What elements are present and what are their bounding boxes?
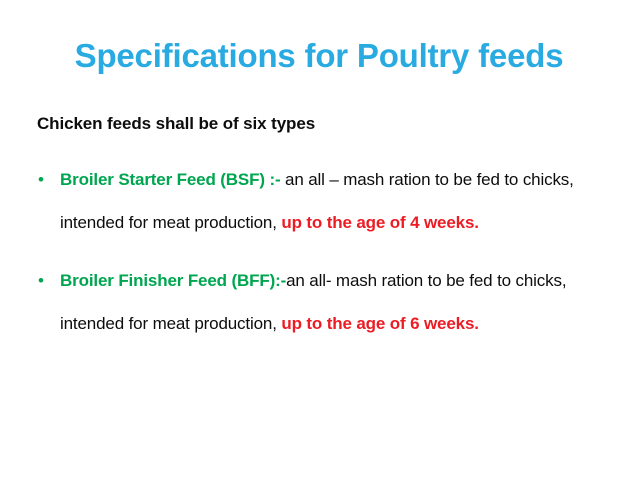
bullet-lead-label: Broiler Starter Feed (BSF) :- bbox=[60, 170, 280, 189]
bullet-list: • Broiler Starter Feed (BSF) :- an all –… bbox=[37, 158, 617, 345]
bullet-point-icon: • bbox=[38, 259, 50, 302]
slide-canvas: Specifications for Poultry feeds Chicken… bbox=[0, 0, 638, 479]
bullet-emphasis-text: up to the age of 4 weeks. bbox=[281, 213, 478, 232]
bullet-lead-label: Broiler Finisher Feed (BFF):- bbox=[60, 271, 286, 290]
subheading: Chicken feeds shall be of six types bbox=[37, 112, 617, 136]
bullet-point-icon: • bbox=[38, 158, 50, 201]
list-item: • Broiler Starter Feed (BSF) :- an all –… bbox=[37, 158, 617, 244]
slide-body: Chicken feeds shall be of six types • Br… bbox=[37, 112, 617, 345]
list-item: • Broiler Finisher Feed (BFF):-an all- m… bbox=[37, 259, 617, 345]
page-title: Specifications for Poultry feeds bbox=[0, 36, 638, 76]
bullet-emphasis-text: up to the age of 6 weeks. bbox=[281, 314, 478, 333]
